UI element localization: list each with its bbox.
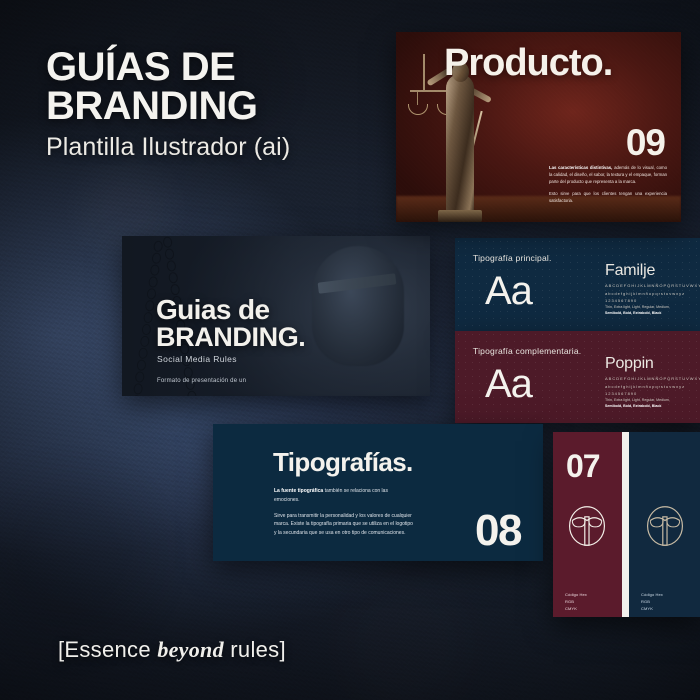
principal-weights-line-1: Thin, Extra light, Light, Regular, Mediu…: [605, 304, 670, 310]
swatch-navy-cmyk-label: CMYK: [641, 605, 663, 612]
principal-sample: Aa: [485, 271, 532, 311]
principal-family: Familje: [605, 262, 655, 280]
headline-line-2: BRANDING: [46, 87, 290, 126]
poster-canvas: GUÍAS DE BRANDING Plantilla Ilustrador (…: [0, 0, 700, 700]
swatch-navy[interactable]: Código Hex RGB CMYK: [629, 432, 700, 617]
tagline-emphasis: beyond: [157, 637, 224, 662]
swatch-red-hex-label: Código Hex: [565, 591, 587, 598]
swatch-red[interactable]: 07 Código Hex RGB CMYK: [553, 432, 622, 617]
principal-weights-line-2: Semibold, Bold, Extrabold, Black: [605, 311, 661, 315]
swatch-navy-meta: Código Hex RGB CMYK: [641, 591, 663, 612]
guias-footer: Formato de presentación de un: [157, 378, 246, 384]
tipografias-title: Tipografías.: [273, 449, 413, 475]
guias-title-line-1: Guias de: [156, 296, 269, 324]
tipografias-number: 08: [475, 509, 521, 553]
producto-body-strong: Las características distintivas,: [549, 165, 612, 170]
complementaria-family: Poppin: [605, 355, 654, 373]
tipografias-body-paragraph-2: Sirve para transmitir la personalidad y …: [274, 512, 414, 538]
colores-number: 07: [566, 450, 600, 482]
complementaria-weights-line-1: Thin, Extra light, Light, Regular, Mediu…: [605, 397, 670, 403]
poster-headline-block: GUÍAS DE BRANDING Plantilla Ilustrador (…: [46, 48, 290, 162]
complementaria-sample: Aa: [485, 364, 532, 404]
complementaria-alphabet-upper: ABCDEFGHIJKLMNÑOPQRSTUVWXYZ: [605, 375, 700, 383]
principal-alphabet-lower: abcdefghijklmnñopqrstuvwxyz: [605, 290, 700, 298]
slide-tipografias[interactable]: Tipografías. La fuente tipográfica tambi…: [213, 424, 543, 561]
swatch-navy-hex-label: Código Hex: [641, 591, 663, 598]
producto-body: Las características distintivas, además …: [549, 164, 667, 209]
scales-monogram-logo-icon-secondary: [643, 504, 687, 548]
slide-tipografia-principal[interactable]: Tipografía principal. Aa Familje ABCDEFG…: [455, 238, 700, 331]
complementaria-weights: Thin, Extra light, Light, Regular, Mediu…: [605, 397, 670, 410]
tipografias-body-strong: La fuente tipográfica: [274, 488, 323, 494]
slide-tipografia-complementaria[interactable]: Tipografía complementaria. Aa Poppin ABC…: [455, 331, 700, 423]
tagline-open: [Essence: [58, 637, 157, 662]
principal-label: Tipografía principal.: [473, 253, 552, 263]
slide-guias-branding[interactable]: Guias de BRANDING. Social Media Rules Fo…: [122, 236, 430, 396]
swatch-navy-rgb-label: RGB: [641, 598, 663, 605]
swatch-red-meta: Código Hex RGB CMYK: [565, 591, 587, 612]
producto-number: 09: [626, 124, 665, 161]
swatch-divider: [622, 432, 629, 617]
guias-title-line-2: BRANDING.: [156, 324, 305, 351]
scales-monogram-logo-icon: [565, 504, 609, 548]
swatch-red-cmyk-label: CMYK: [565, 605, 587, 612]
complementaria-alphabet-lower: abcdefghijklmnñopqrstuvwxyz: [605, 383, 700, 391]
headline-subtitle: Plantilla Ilustrador (ai): [46, 133, 290, 162]
tagline-close: rules]: [224, 637, 286, 662]
complementaria-alphabet: ABCDEFGHIJKLMNÑOPQRSTUVWXYZ abcdefghijkl…: [605, 375, 700, 398]
guias-subtitle: Social Media Rules: [157, 354, 237, 364]
poster-tagline: [Essence beyond rules]: [58, 637, 286, 663]
principal-alphabet-upper: ABCDEFGHIJKLMNÑOPQRSTUVWXYZ: [605, 282, 700, 290]
producto-title: Producto.: [444, 42, 612, 85]
complementaria-label: Tipografía complementaria.: [473, 346, 581, 356]
headline-line-1: GUÍAS DE: [46, 48, 290, 87]
slide-producto[interactable]: Producto. 09 Las características distint…: [396, 32, 681, 222]
principal-weights: Thin, Extra light, Light, Regular, Mediu…: [605, 304, 670, 317]
principal-alphabet: ABCDEFGHIJKLMNÑOPQRSTUVWXYZ abcdefghijkl…: [605, 282, 700, 305]
producto-body-second: Esto sirve para que los clientes tengan …: [549, 190, 667, 204]
slide-colores[interactable]: 07 Código Hex RGB CMYK: [553, 432, 700, 617]
swatch-red-rgb-label: RGB: [565, 598, 587, 605]
tipografias-body: La fuente tipográfica también se relacio…: [274, 487, 414, 545]
complementaria-weights-line-2: Semibold, Bold, Extrabold, Black: [605, 404, 661, 408]
